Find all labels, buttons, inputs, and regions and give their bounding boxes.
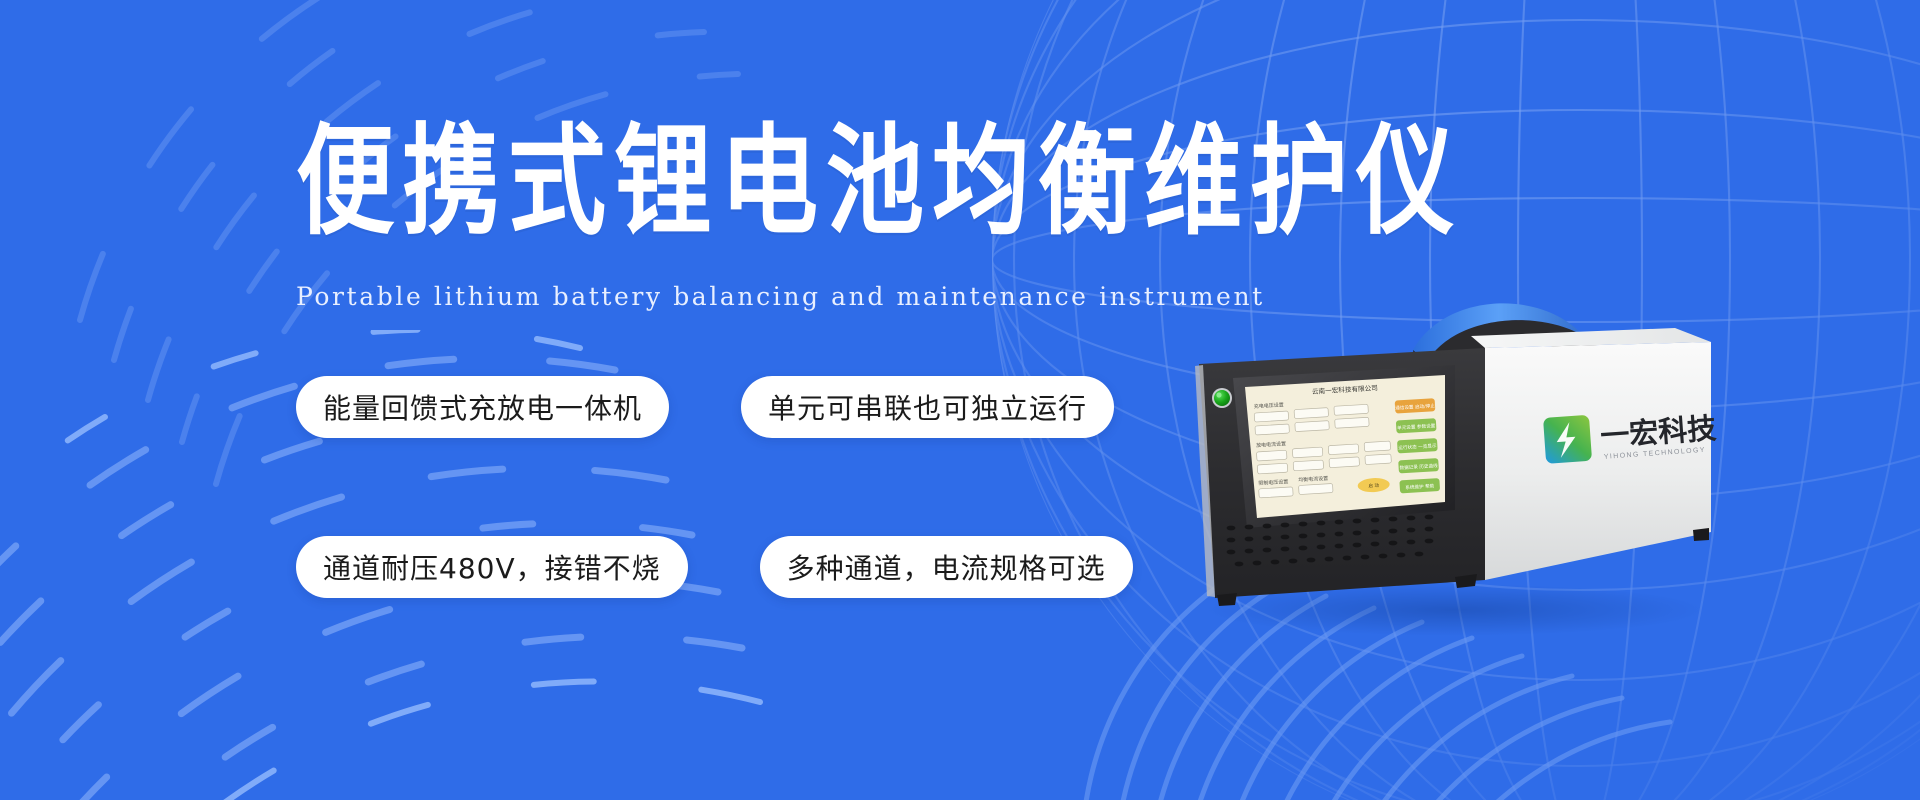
product-device-image: 一宏科技 YIHONG TECHNOLOGY 云南一宏科技有限公司 充电电压设置 [1155,280,1735,640]
feature-pill-channel-current[interactable]: 多种通道，电流规格可选 [760,536,1133,598]
feature-pill-row-2: 通道耐压480V，接错不烧 多种通道，电流规格可选 [296,536,1133,598]
product-banner: 便携式锂电池均衡维护仪 Portable lithium battery bal… [0,0,1920,800]
feature-pill-480v-withstand[interactable]: 通道耐压480V，接错不烧 [296,536,688,598]
page-title: 便携式锂电池均衡维护仪 [296,120,1326,247]
device-side-panel [1485,342,1711,580]
feature-pill-energy-feedback[interactable]: 能量回馈式充放电一体机 [296,376,669,438]
feature-pill-row-1: 能量回馈式充放电一体机 单元可串联也可独立运行 [296,376,1133,438]
device-screen: 云南一宏科技有限公司 充电电压设置 放电电流设置 [1245,375,1445,518]
feature-pill-series-or-standalone[interactable]: 单元可串联也可独立运行 [741,376,1114,438]
feature-pill-group: 能量回馈式充放电一体机 单元可串联也可独立运行 通道耐压480V，接错不烧 多种… [296,376,1133,598]
power-indicator-led [1212,388,1232,408]
